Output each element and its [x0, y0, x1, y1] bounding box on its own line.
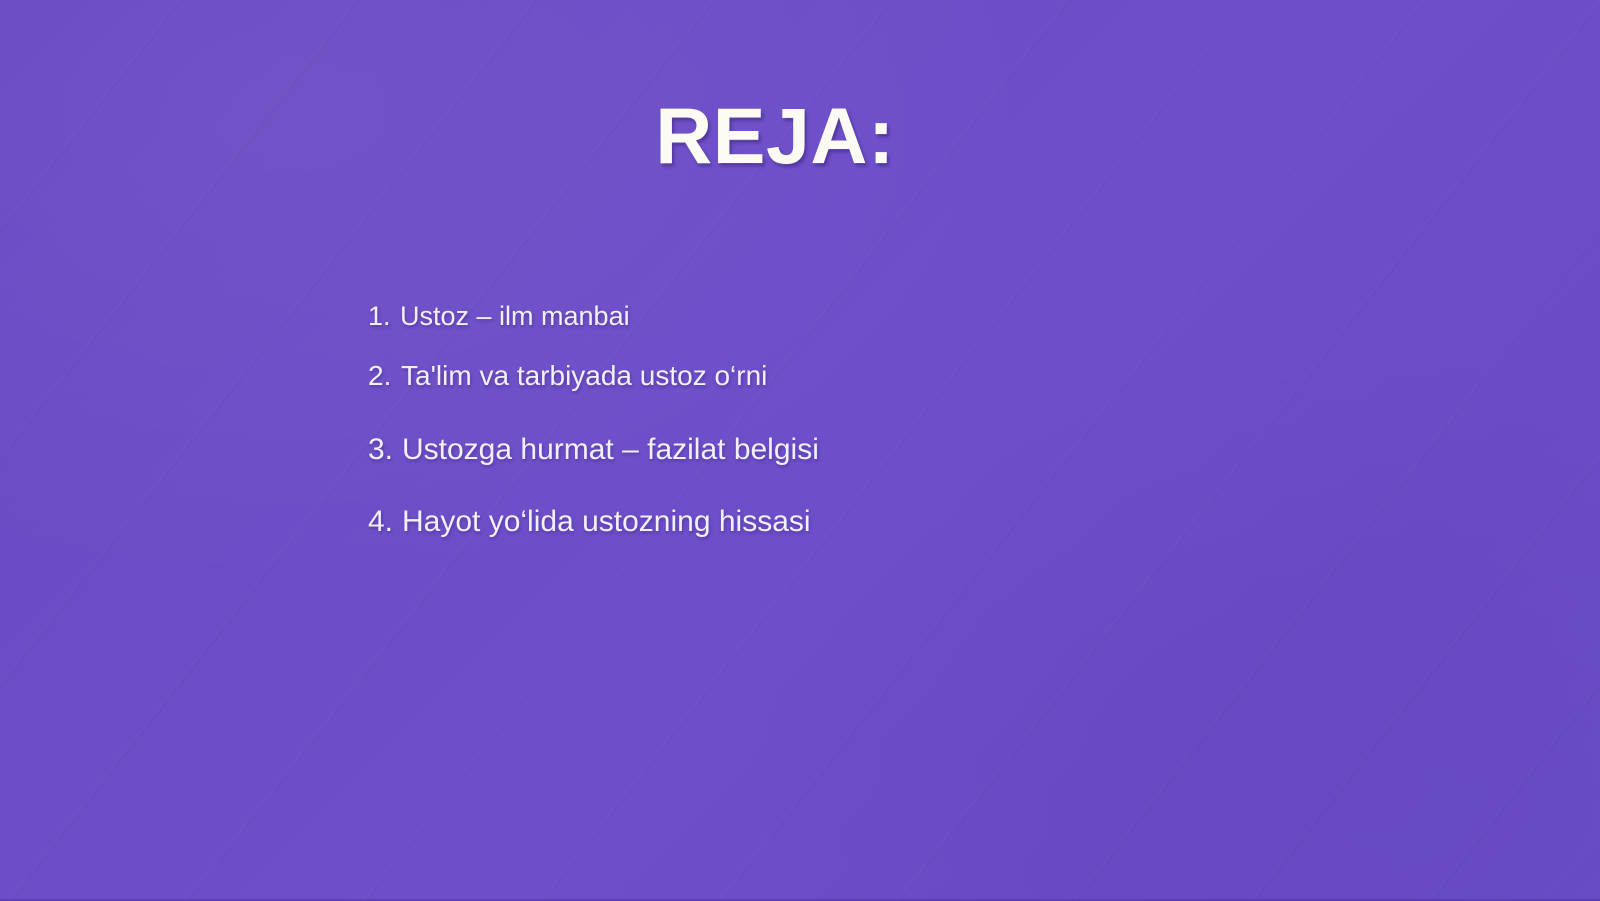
list-item: 4. Hayot yo‘lida ustozning hissasi [368, 507, 1268, 537]
page-title: REJA: [655, 96, 895, 175]
list-item: 1. Ustoz – ilm manbai [368, 303, 1268, 330]
list-item: 2. Ta'lim va tarbiyada ustoz o‘rni [368, 362, 1268, 390]
presentation-slide: REJA: 1. Ustoz – ilm manbai 2. Ta'lim va… [0, 0, 1600, 901]
list-item-number: 2. [368, 362, 401, 390]
list-item: 3. Ustozga hurmat – fazilat belgisi [368, 435, 1268, 465]
list-item-number: 1. [368, 303, 400, 330]
list-item-number: 3. [368, 435, 402, 465]
plan-list: 1. Ustoz – ilm manbai 2. Ta'lim va tarbi… [368, 303, 1268, 537]
list-item-label: Hayot yo‘lida ustozning hissasi [402, 507, 811, 537]
list-item-number: 4. [368, 507, 402, 537]
list-item-label: Ta'lim va tarbiyada ustoz o‘rni [401, 362, 767, 390]
list-item-label: Ustozga hurmat – fazilat belgisi [402, 435, 819, 465]
list-item-label: Ustoz – ilm manbai [400, 303, 630, 330]
slide-title-container: REJA: [0, 96, 1550, 175]
